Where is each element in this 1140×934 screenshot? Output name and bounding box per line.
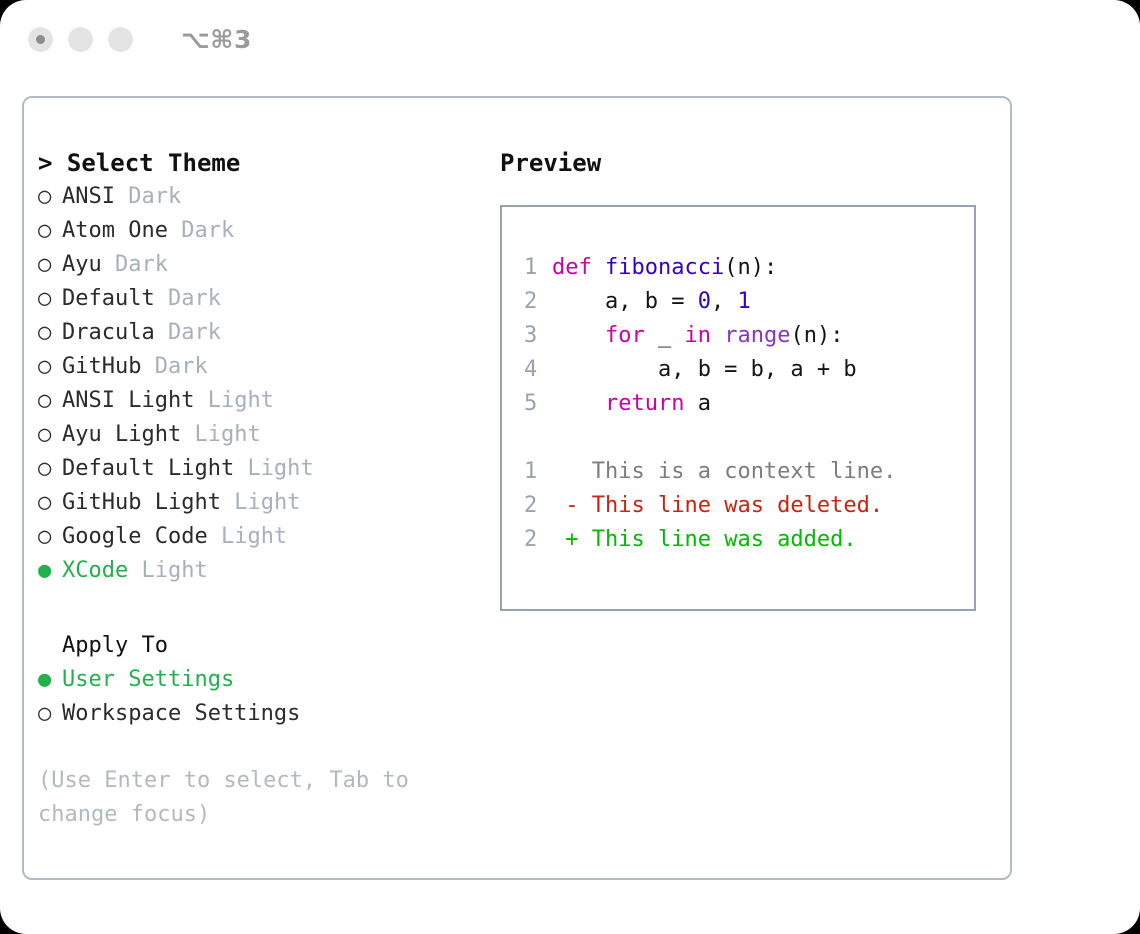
theme-list-item[interactable]: ○ANSI Dark — [38, 180, 478, 214]
theme-variant-label: Dark — [128, 184, 181, 209]
radio-unselected-icon: ○ — [38, 697, 62, 731]
title-bar: ⌥⌘3 — [0, 0, 1140, 78]
diff-block: 1 This is a context line.2 - This line w… — [502, 455, 974, 557]
code-token-plain — [552, 391, 605, 416]
code-token-num: 1 — [737, 289, 750, 314]
radio-unselected-icon: ○ — [38, 520, 62, 554]
apply-to-option[interactable]: ●User Settings — [38, 663, 478, 697]
code-line: 5 return a — [502, 387, 974, 421]
theme-variant-label: Light — [208, 388, 274, 413]
code-token-kw: def — [552, 255, 605, 280]
theme-variant-label: Light — [247, 456, 313, 481]
apply-to-option[interactable]: ○Workspace Settings — [38, 697, 478, 731]
window-shortcut-label: ⌥⌘3 — [181, 25, 252, 54]
code-token-kw: in — [684, 323, 711, 348]
diff-line: 2 - This line was deleted. — [502, 489, 974, 523]
theme-list-item[interactable]: ○Atom One Dark — [38, 214, 478, 248]
diff-line-number: 1 — [524, 455, 552, 489]
diff-text: This line was added. — [592, 527, 857, 552]
code-token-fn: fibonacci — [605, 255, 724, 280]
diff-line-add: + This line was added. — [552, 527, 857, 552]
code-line: 2 a, b = 0, 1 — [502, 285, 974, 319]
code-token-plain: , — [711, 289, 738, 314]
diff-sign: + — [565, 527, 578, 552]
diff-sign: - — [565, 493, 578, 518]
main-panel: > Select Theme ○ANSI Dark○Atom One Dark○… — [22, 96, 1012, 880]
code-preview-box: 1def fibonacci(n):2 a, b = 0, 13 for _ i… — [500, 205, 976, 611]
theme-name: Default — [62, 286, 155, 311]
theme-list-header: > Select Theme — [38, 146, 478, 180]
diff-line: 2 + This line was added. — [502, 523, 974, 557]
radio-unselected-icon: ○ — [38, 316, 62, 350]
theme-name: XCode — [62, 558, 128, 583]
code-line-number: 5 — [524, 387, 552, 421]
radio-unselected-icon: ○ — [38, 452, 62, 486]
diff-line-context: This is a context line. — [552, 459, 896, 484]
code-diff-spacer — [502, 421, 974, 455]
window-button-close-dot — [36, 35, 45, 44]
theme-variant-label: Dark — [181, 218, 234, 243]
diff-line-number: 2 — [524, 523, 552, 557]
diff-line-del: - This line was deleted. — [552, 493, 883, 518]
preview-section: Preview 1def fibonacci(n):2 a, b = 0, 13… — [500, 146, 1000, 611]
theme-name: Default Light — [62, 456, 234, 481]
apply-to-option-label: Workspace Settings — [62, 701, 300, 726]
theme-name: Ayu Light — [62, 422, 181, 447]
theme-list-item[interactable]: ○Ayu Light Light — [38, 418, 478, 452]
radio-unselected-icon: ○ — [38, 214, 62, 248]
theme-variant-label: Dark — [115, 252, 168, 277]
theme-variant-label: Light — [194, 422, 260, 447]
diff-text: This is a context line. — [592, 459, 897, 484]
code-token-plain — [711, 323, 724, 348]
theme-list-item[interactable]: ○Dracula Dark — [38, 316, 478, 350]
code-line-number: 3 — [524, 319, 552, 353]
code-line: 1def fibonacci(n): — [502, 251, 974, 285]
app-window: ⌥⌘3 > Select Theme ○ANSI Dark○Atom One D… — [0, 0, 1140, 934]
radio-selected-icon: ● — [38, 554, 62, 588]
radio-unselected-icon: ○ — [38, 418, 62, 452]
window-button-close[interactable] — [28, 27, 53, 52]
code-line: 4 a, b = b, a + b — [502, 353, 974, 387]
code-token-plain — [552, 323, 605, 348]
code-token-plain: _ — [645, 323, 685, 348]
code-token-kw: for — [605, 323, 645, 348]
theme-name: Google Code — [62, 524, 208, 549]
theme-list-item[interactable]: ○Ayu Dark — [38, 248, 478, 282]
theme-name: GitHub Light — [62, 490, 221, 515]
theme-name: GitHub — [62, 354, 141, 379]
code-token-num: 0 — [698, 289, 711, 314]
code-block: 1def fibonacci(n):2 a, b = 0, 13 for _ i… — [502, 251, 974, 421]
theme-variant-label: Light — [221, 524, 287, 549]
radio-unselected-icon: ○ — [38, 180, 62, 214]
radio-unselected-icon: ○ — [38, 350, 62, 384]
diff-text: This line was deleted. — [592, 493, 883, 518]
apply-to-option-label: User Settings — [62, 667, 234, 692]
theme-variant-label: Dark — [168, 286, 221, 311]
theme-name: Ayu — [62, 252, 102, 277]
theme-name: Atom One — [62, 218, 168, 243]
code-line: 3 for _ in range(n): — [502, 319, 974, 353]
theme-list-section: > Select Theme ○ANSI Dark○Atom One Dark○… — [38, 146, 478, 588]
theme-name: ANSI — [62, 184, 115, 209]
radio-selected-icon: ● — [38, 663, 62, 697]
code-token-kw: return — [605, 391, 684, 416]
code-line-number: 1 — [524, 251, 552, 285]
theme-name: Dracula — [62, 320, 155, 345]
radio-unselected-icon: ○ — [38, 282, 62, 316]
theme-variant-label: Dark — [155, 354, 208, 379]
window-button-minimize[interactable] — [68, 27, 93, 52]
diff-line-number: 2 — [524, 489, 552, 523]
radio-unselected-icon: ○ — [38, 384, 62, 418]
theme-list-item[interactable]: ○Default Dark — [38, 282, 478, 316]
apply-to-options: ●User Settings○Workspace Settings — [38, 663, 478, 731]
theme-variant-label: Light — [234, 490, 300, 515]
theme-list-item[interactable]: ○Google Code Light — [38, 520, 478, 554]
diff-line: 1 This is a context line. — [502, 455, 974, 489]
radio-unselected-icon: ○ — [38, 248, 62, 282]
apply-to-heading: Apply To — [38, 629, 478, 663]
code-line-number: 2 — [524, 285, 552, 319]
theme-list: ○ANSI Dark○Atom One Dark○Ayu Dark○Defaul… — [38, 180, 478, 588]
code-token-plain: a, b = b, a + b — [552, 357, 857, 382]
theme-variant-label: Light — [141, 558, 207, 583]
radio-unselected-icon: ○ — [38, 486, 62, 520]
theme-list-item[interactable]: ●XCode Light — [38, 554, 478, 588]
preview-header: Preview — [500, 146, 1000, 180]
diff-sign — [565, 459, 578, 484]
apply-to-section: Apply To ●User Settings○Workspace Settin… — [38, 629, 478, 731]
code-token-plain: a — [684, 391, 711, 416]
code-line-number: 4 — [524, 353, 552, 387]
code-token-builtin: range — [724, 323, 790, 348]
theme-list-item[interactable]: ○GitHub Light Light — [38, 486, 478, 520]
theme-name: ANSI Light — [62, 388, 194, 413]
theme-list-item[interactable]: ○ANSI Light Light — [38, 384, 478, 418]
theme-list-item[interactable]: ○Default Light Light — [38, 452, 478, 486]
theme-list-item[interactable]: ○GitHub Dark — [38, 350, 478, 384]
keyboard-hint-text: (Use Enter to select, Tab to change focu… — [38, 764, 458, 832]
code-token-plain: a, b = — [552, 289, 698, 314]
code-token-plain: (n): — [724, 255, 777, 280]
window-button-maximize[interactable] — [108, 27, 133, 52]
code-token-plain: (n): — [790, 323, 843, 348]
theme-variant-label: Dark — [168, 320, 221, 345]
